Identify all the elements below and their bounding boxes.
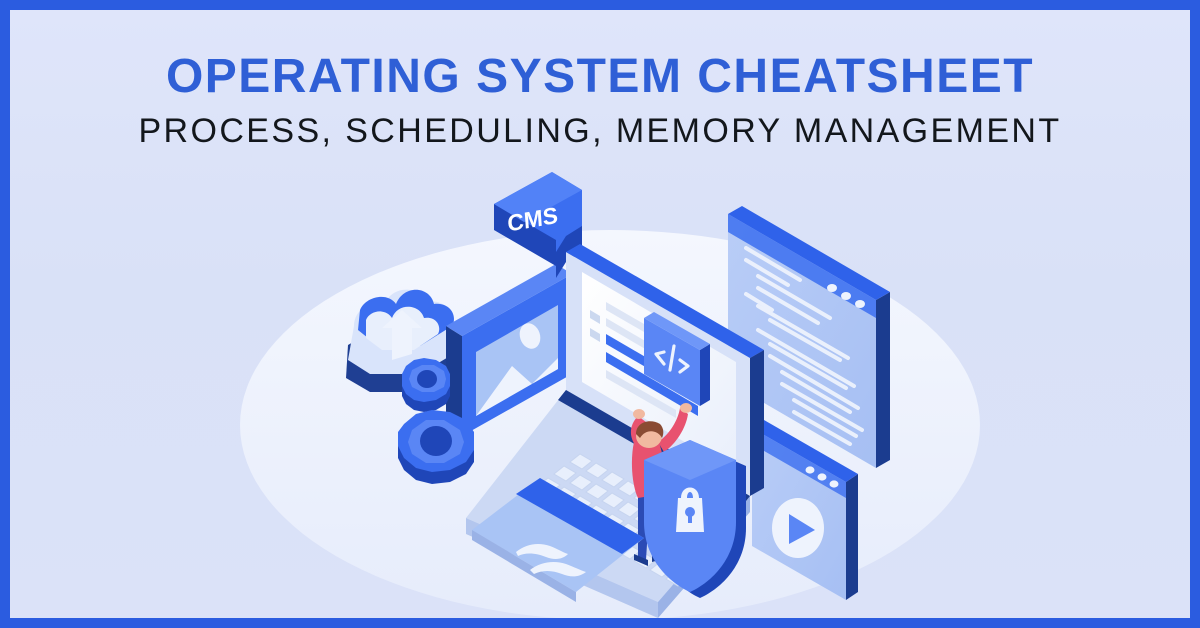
gear-small bbox=[402, 358, 450, 412]
title-block: OPERATING SYSTEM CHEATSHEET PROCESS, SCH… bbox=[10, 52, 1190, 150]
play-button-icon bbox=[772, 498, 824, 558]
banner-root: OPERATING SYSTEM CHEATSHEET PROCESS, SCH… bbox=[0, 0, 1200, 628]
character-hand-left bbox=[633, 409, 645, 419]
isometric-scene: CMS bbox=[10, 160, 1200, 628]
hero-illustration: CMS bbox=[10, 160, 1200, 628]
character-hand-right bbox=[680, 403, 692, 413]
page-subtitle: PROCESS, SCHEDULING, MEMORY MANAGEMENT bbox=[10, 114, 1190, 150]
gear-large bbox=[398, 410, 474, 484]
page-title: OPERATING SYSTEM CHEATSHEET bbox=[10, 52, 1190, 102]
